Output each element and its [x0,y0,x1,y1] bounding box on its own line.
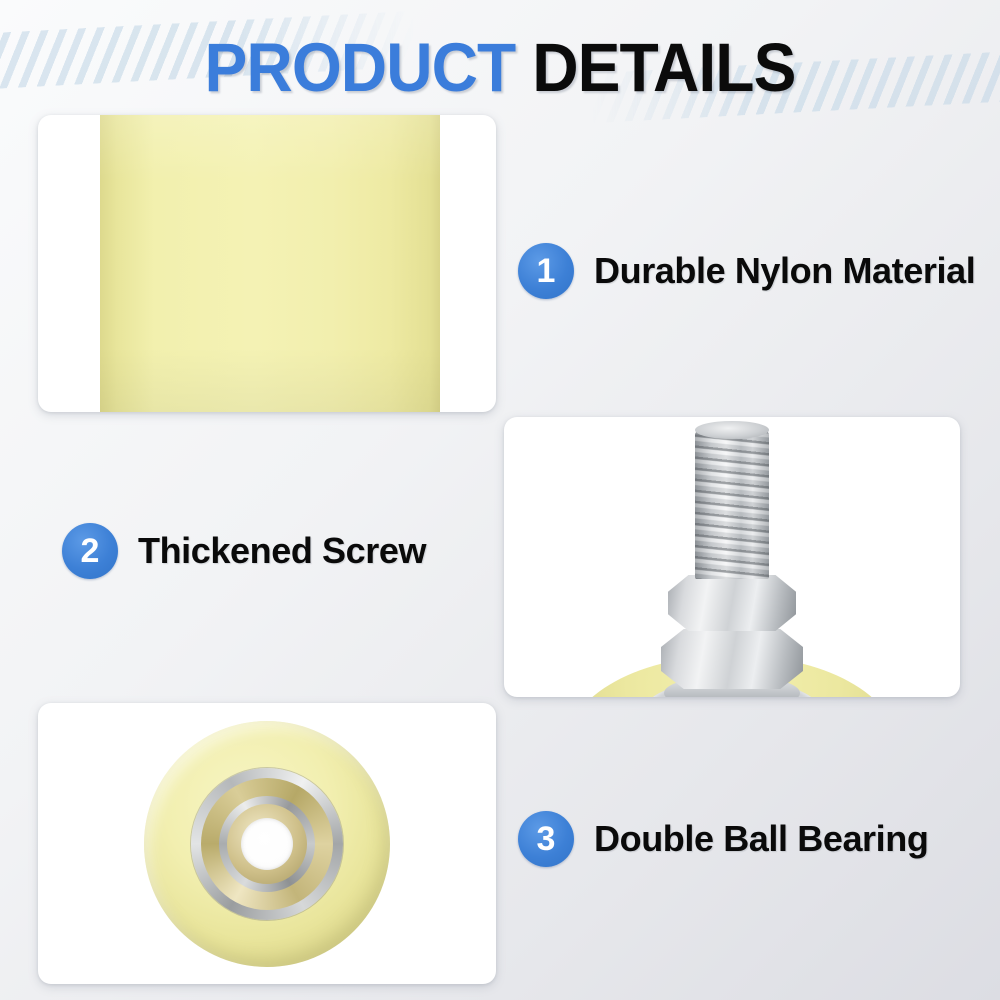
feature-number-badge-1: 1 [518,243,574,299]
bearing-center-bore [241,818,293,870]
page-title: PRODUCT DETAILS [35,33,965,102]
page-title-secondary: DETAILS [515,29,795,106]
page-title-primary: PRODUCT [205,29,516,106]
bolt-head-top-shape [695,421,769,439]
screw-photo [504,417,960,697]
photo-card-double-ball-bearing [38,703,496,984]
hex-nut-lower-shape [661,629,803,689]
photo-card-thickened-screw [504,417,960,697]
bearing-wheel-photo [38,703,496,984]
nylon-wheel-body-shape [144,721,390,967]
feature-number-badge-2: 2 [62,523,118,579]
feature-label-2: Thickened Screw [138,530,426,572]
feature-label-3: Double Ball Bearing [594,818,928,860]
feature-number-badge-3: 3 [518,811,574,867]
product-details-infographic: PRODUCT DETAILS 1 Dura [0,0,1000,1000]
feature-label-1: Durable Nylon Material [594,250,975,292]
nylon-wheel-surface-photo [100,115,440,412]
hex-nut-upper-shape [668,575,796,631]
feature-item-2: 2 Thickened Screw [62,523,426,579]
threaded-bolt-shank-shape [695,431,769,579]
photo-card-nylon-material [38,115,496,412]
feature-item-1: 1 Durable Nylon Material [518,243,975,299]
feature-item-3: 3 Double Ball Bearing [518,811,928,867]
